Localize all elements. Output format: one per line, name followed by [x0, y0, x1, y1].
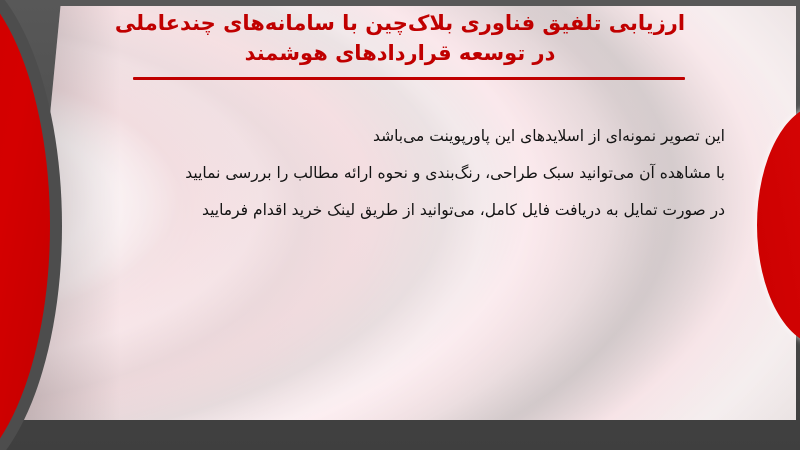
slide-title: ارزیابی تلفیق فناوری بلاک‌چین با سامانه‌…: [100, 8, 700, 68]
title-line-2: در توسعه قراردادهای هوشمند: [100, 38, 700, 68]
title-underline-rule: [133, 77, 685, 80]
title-line-1: ارزیابی تلفیق فناوری بلاک‌چین با سامانه‌…: [100, 8, 700, 38]
body-line-1: این تصویر نمونه‌ای از اسلایدهای این پاور…: [65, 118, 725, 155]
presentation-slide: ارزیابی تلفیق فناوری بلاک‌چین با سامانه‌…: [0, 0, 800, 450]
slide-body-text: این تصویر نمونه‌ای از اسلایدهای این پاور…: [65, 118, 725, 229]
body-line-3: در صورت تمایل به دریافت فایل کامل، می‌تو…: [65, 192, 725, 229]
body-line-2: با مشاهده آن می‌توانید سبک طراحی، رنگ‌بن…: [65, 155, 725, 192]
